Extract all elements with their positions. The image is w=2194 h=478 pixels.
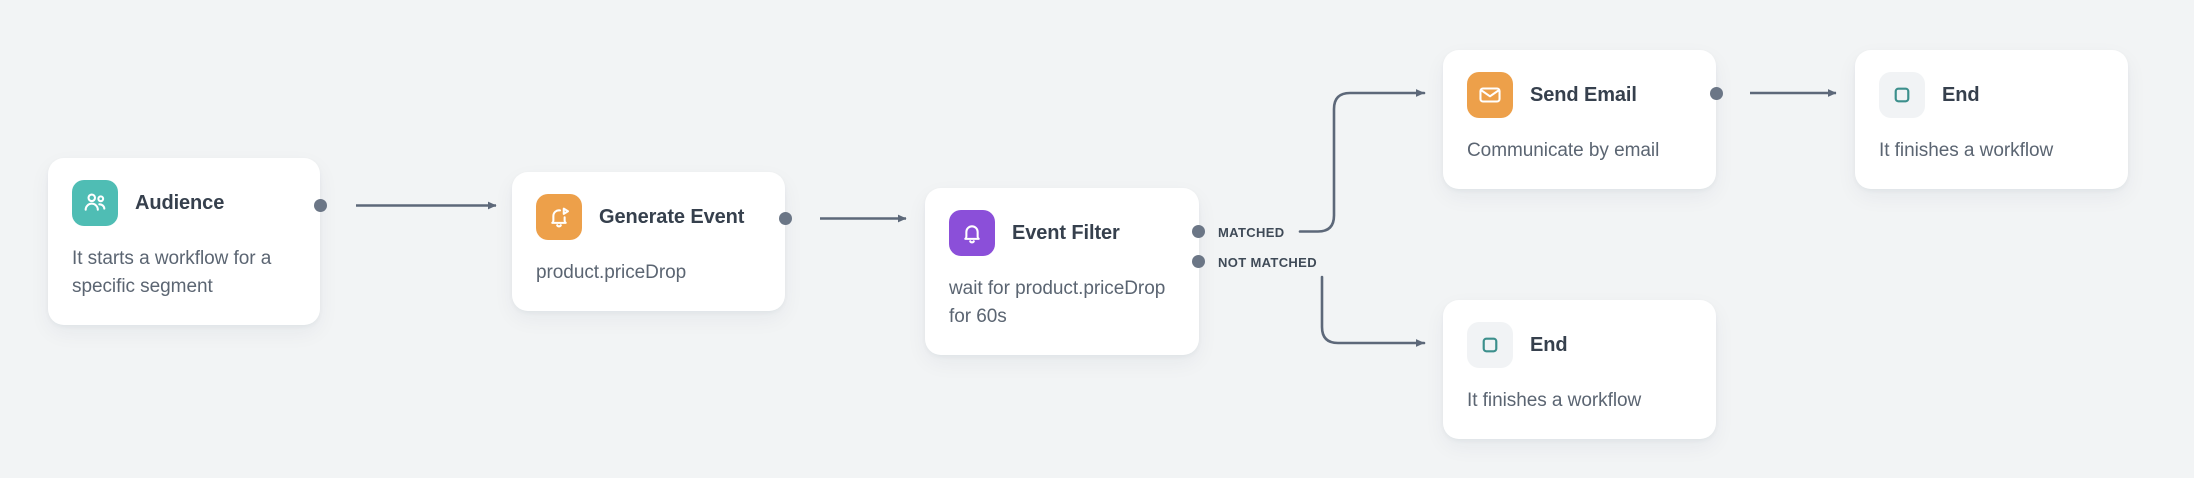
node-description: product.priceDrop [536,259,761,287]
node-header: Generate Event [536,194,761,240]
node-title: End [1942,84,1979,107]
bell-icon [949,210,995,256]
stop-square-icon [1879,72,1925,118]
node-description: It finishes a workflow [1879,137,2104,165]
node-generate-event[interactable]: Generate Event product.priceDrop [512,172,785,311]
node-audience[interactable]: Audience It starts a workflow for a spec… [48,158,320,325]
node-title: Audience [135,192,224,215]
node-end-bottom[interactable]: End It finishes a workflow [1443,300,1716,439]
audience-people-icon [72,180,118,226]
branch-label-matched: MATCHED [1218,225,1284,240]
output-port-send-email[interactable] [1710,87,1723,100]
node-title: Send Email [1530,84,1637,107]
node-title: End [1530,334,1567,357]
workflow-canvas[interactable]: Audience It starts a workflow for a spec… [0,0,2194,478]
node-description: Communicate by email [1467,137,1692,165]
output-port-not-matched[interactable] [1192,255,1205,268]
edge-filter-matched-to-send-email [1300,93,1424,232]
branch-label-not-matched: NOT MATCHED [1218,255,1317,270]
envelope-icon [1467,72,1513,118]
node-event-filter[interactable]: Event Filter wait for product.priceDrop … [925,188,1199,355]
stop-square-icon [1467,322,1513,368]
node-description: It finishes a workflow [1467,387,1692,415]
node-header: Send Email [1467,72,1692,118]
node-title: Event Filter [1012,222,1120,245]
output-port-generate-event[interactable] [779,212,792,225]
node-title: Generate Event [599,206,744,229]
node-header: End [1879,72,2104,118]
node-send-email[interactable]: Send Email Communicate by email [1443,50,1716,189]
bell-play-icon [536,194,582,240]
node-header: Audience [72,180,296,226]
output-port-matched[interactable] [1192,225,1205,238]
node-end-top[interactable]: End It finishes a workflow [1855,50,2128,189]
edge-filter-not-matched-to-end [1322,277,1424,343]
output-port-audience[interactable] [314,199,327,212]
node-description: It starts a workflow for a specific segm… [72,245,296,301]
node-description: wait for product.priceDrop for 60s [949,275,1175,331]
node-header: Event Filter [949,210,1175,256]
node-header: End [1467,322,1692,368]
